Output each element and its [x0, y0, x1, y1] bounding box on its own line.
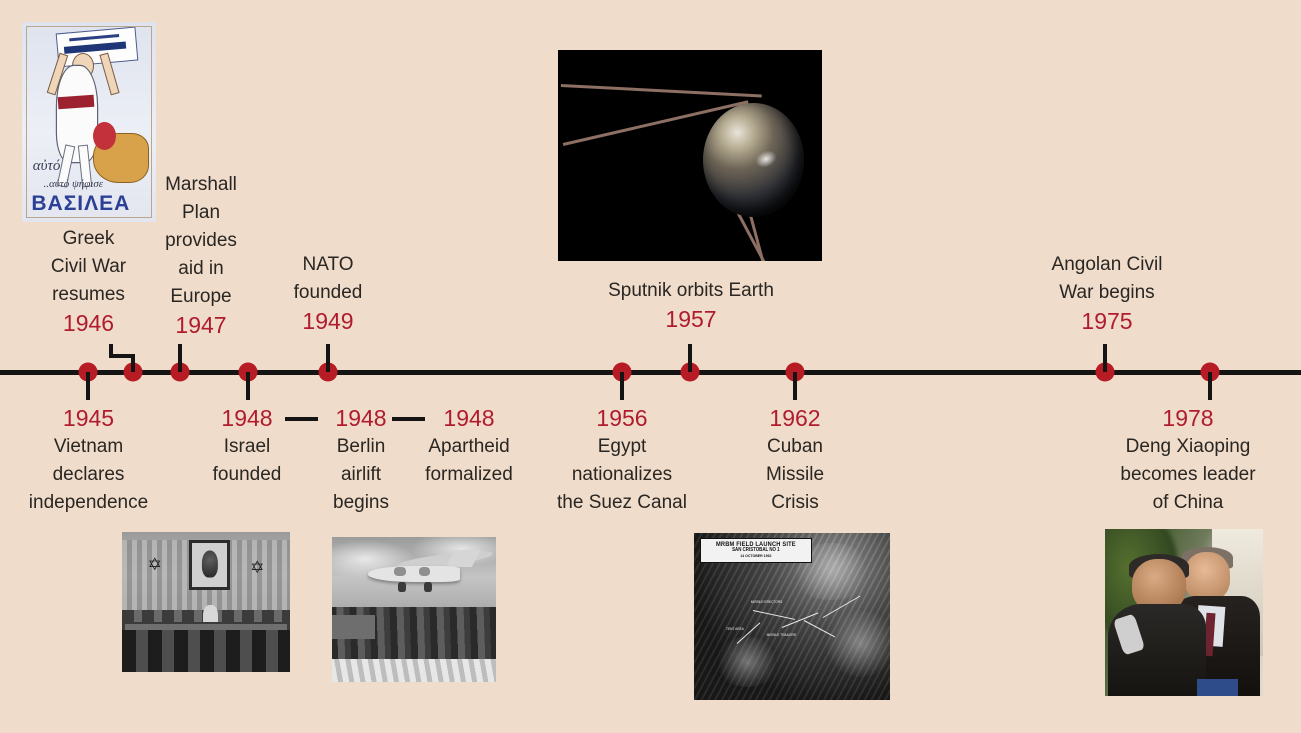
caption-line: Europe: [138, 284, 264, 310]
caption-line: War begins: [1013, 280, 1201, 306]
caption-line: NATO: [264, 252, 392, 278]
event-label-deng-xiaoping: 1978 Deng Xiaoping becomes leader of Chi…: [1088, 405, 1288, 516]
event-year: 1945: [7, 405, 170, 432]
caption-line: the Suez Canal: [530, 490, 714, 516]
stem-1978: [1208, 372, 1212, 400]
caption-line: of China: [1088, 490, 1288, 516]
caption-line: Cuban: [740, 434, 850, 460]
caption-line: formalized: [404, 462, 534, 488]
caption-line: Crisis: [740, 490, 850, 516]
stem-1947: [178, 344, 182, 372]
event-label-cuban-missile-crisis: 1962 Cuban Missile Crisis: [740, 405, 850, 516]
stem-1948: [246, 372, 250, 400]
event-year: 1947: [138, 312, 264, 339]
caption-line: Marshall: [138, 172, 264, 198]
caption-line: aid in: [138, 256, 264, 282]
deng-carter-image: [1105, 529, 1263, 696]
event-year: 1956: [530, 405, 714, 432]
stem-1945: [86, 372, 90, 400]
elbow-1946-vertical-bottom: [131, 354, 135, 372]
cuba-u2-recon-image: MISSILE ERECTORS TENT AREA MISSILE TRAIL…: [694, 533, 890, 700]
caption-line: becomes leader: [1088, 462, 1288, 488]
sputnik-satellite-image: [558, 50, 822, 261]
event-year: 1962: [740, 405, 850, 432]
caption-line: nationalizes: [530, 462, 714, 488]
event-label-apartheid: 1948 Apartheid formalized: [404, 405, 534, 488]
event-label-berlin-airlift: 1948 Berlin airlift begins: [306, 405, 416, 516]
caption-line: Israel: [192, 434, 302, 460]
caption-line: Deng Xiaoping: [1088, 434, 1288, 460]
stem-1957: [688, 344, 692, 372]
event-year: 1948: [192, 405, 302, 432]
caption-line: founded: [192, 462, 302, 488]
event-label-israel-founded: 1948 Israel founded: [192, 405, 302, 488]
caption-line: Sputnik orbits Earth: [560, 278, 822, 304]
greek-election-poster-image: αὐτό ..αὐτό ψήφισε ΒΑΣΙΛΕΑ: [22, 22, 156, 222]
cuba-annotation-1: MISSILE ERECTORS: [751, 600, 783, 604]
cuba-caption-line3: 14 OCTOBER 1962: [707, 554, 804, 559]
event-year: 1948: [404, 405, 534, 432]
event-label-sputnik: Sputnik orbits Earth 1957: [560, 278, 822, 333]
event-year: 1957: [560, 306, 822, 333]
event-label-nato-founded: NATO founded 1949: [264, 252, 392, 335]
stem-1975: [1103, 344, 1107, 372]
stem-1949: [326, 344, 330, 372]
timeline-infographic: αὐτό ..αὐτό ψήφισε ΒΑΣΙΛΕΑ: [0, 0, 1301, 733]
caption-line: Plan: [138, 200, 264, 226]
caption-line: Vietnam: [7, 434, 170, 460]
cuba-caption-box: MRBM FIELD LAUNCH SITE SAN CRISTOBAL NO …: [700, 538, 812, 563]
caption-line: Missile: [740, 462, 850, 488]
event-year: 1975: [1013, 308, 1201, 335]
caption-line: Egypt: [530, 434, 714, 460]
event-label-suez-canal: 1956 Egypt nationalizes the Suez Canal: [530, 405, 714, 516]
caption-line: Berlin: [306, 434, 416, 460]
caption-line: airlift: [306, 462, 416, 488]
event-year: 1978: [1088, 405, 1288, 432]
israel-declaration-image: [122, 532, 290, 672]
caption-line: Angolan Civil: [1013, 252, 1201, 278]
caption-line: begins: [306, 490, 416, 516]
caption-line: provides: [138, 228, 264, 254]
caption-line: Apartheid: [404, 434, 534, 460]
event-label-vietnam-independence: 1945 Vietnam declares independence: [7, 405, 170, 516]
cuba-annotation-3: MISSILE TRAILERS: [766, 633, 795, 637]
event-year: 1949: [264, 308, 392, 335]
stem-1956: [620, 372, 624, 400]
berlin-airlift-image: [332, 537, 496, 682]
stem-1962: [793, 372, 797, 400]
caption-line: founded: [264, 280, 392, 306]
event-label-marshall-plan: Marshall Plan provides aid in Europe 194…: [138, 172, 264, 339]
caption-line: declares: [7, 462, 170, 488]
cuba-annotation-2: TENT AREA: [726, 627, 744, 631]
caption-line: independence: [7, 490, 170, 516]
event-label-angolan-civil-war: Angolan Civil War begins 1975: [1013, 252, 1201, 335]
event-year: 1948: [306, 405, 416, 432]
